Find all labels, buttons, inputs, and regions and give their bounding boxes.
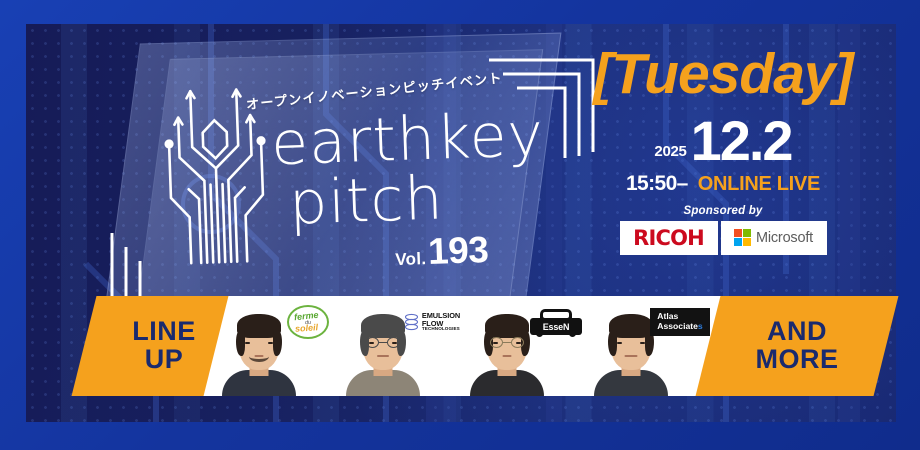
weekday-heading: [Tuesday] [560, 46, 886, 103]
speaker-card[interactable]: Atlas Associates [588, 296, 716, 396]
microsoft-logo: Microsoft [721, 221, 827, 255]
date-row: 2025 12.2 [560, 115, 886, 167]
volume-badge: Vol. 193 [394, 229, 489, 274]
company-logo-atlas-associates: Atlas Associates [647, 303, 713, 341]
emulsion-line3: TECHNOLOGIES [422, 327, 460, 332]
year-label: 2025 [654, 143, 686, 167]
speaker-card[interactable]: ferme du soleil [216, 296, 344, 396]
vol-number: 193 [427, 229, 489, 273]
company-logo-ferme-du-soleil: ferme du soleil [275, 303, 341, 341]
event-info-column: [Tuesday] 2025 12.2 15:50– ONLINE LIVE S… [560, 46, 886, 255]
lineup-line2: UP [132, 346, 196, 374]
lineup-label-text: LINE UP [132, 318, 196, 373]
wordmark-pitch: pitch [288, 168, 444, 233]
andmore-line1: AND [756, 318, 839, 346]
and-more-label-block: AND MORE [708, 296, 886, 396]
start-time-label: 15:50– [626, 172, 688, 196]
date-label: 12.2 [691, 115, 792, 167]
company-logo-emulsion-flow: EMULSION FLOW TECHNOLOGIES [399, 303, 465, 341]
time-row: 15:50– ONLINE LIVE [560, 172, 886, 196]
and-more-label-text: AND MORE [756, 318, 839, 373]
ferme-logo-word2: soleil [295, 322, 319, 334]
emulsion-stacked-ellipses-icon [404, 313, 419, 331]
lineup-line1: LINE [132, 318, 196, 346]
sponsored-by-label: Sponsored by [560, 205, 886, 217]
atlas-line2: Associate [657, 321, 698, 331]
online-live-label: ONLINE LIVE [698, 173, 820, 196]
ricoh-logo: RICOH [620, 221, 718, 255]
ricoh-logo-text: RICOH [633, 226, 704, 250]
atlas-line2-accent: s [698, 321, 703, 331]
sponsor-logo-row: RICOH Microsoft [560, 221, 886, 255]
event-poster: オープンイノベーションピッチイベント earthkey pitch Vol. 1… [0, 0, 920, 450]
company-logo-essen: EsseN [523, 303, 589, 341]
lineup-strip: LINE UP [0, 296, 920, 396]
vol-label: Vol. [395, 249, 427, 270]
speaker-card[interactable]: EMULSION FLOW TECHNOLOGIES [340, 296, 468, 396]
essen-logo-text: EsseN [528, 322, 584, 332]
microsoft-squares-icon [734, 229, 751, 246]
earthkey-logo-lockup: オープンイノベーションピッチイベント earthkey pitch Vol. 1… [156, 54, 523, 281]
speaker-card[interactable]: EsseN [464, 296, 592, 396]
andmore-line2: MORE [756, 346, 839, 374]
microsoft-logo-text: Microsoft [756, 230, 813, 246]
